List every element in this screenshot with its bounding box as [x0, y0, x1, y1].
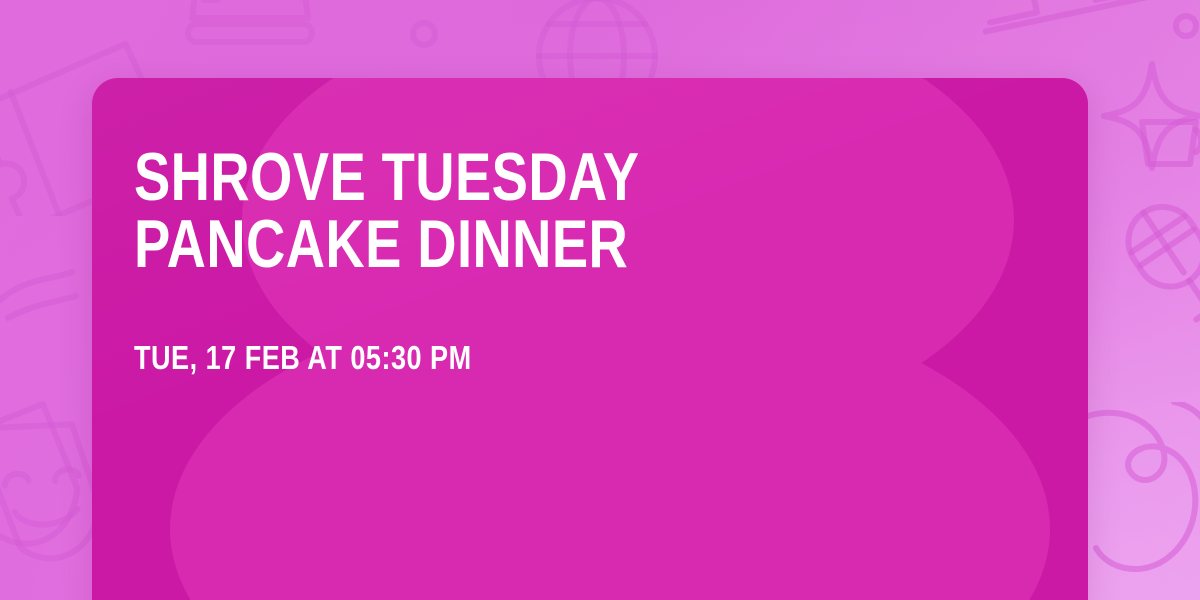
- dot-accent-icon: [404, 14, 444, 54]
- event-title: Shrove Tuesday Pancake Dinner: [134, 144, 833, 279]
- event-card-canvas: Shrove Tuesday Pancake Dinner Tue, 17 Fe…: [0, 0, 1200, 600]
- dot-accent-icon: [1166, 6, 1200, 46]
- cup-accent-icon: [1126, 100, 1200, 190]
- microphone-icon: [1112, 180, 1200, 330]
- event-date: Tue, 17 Feb at 05:30 PM: [134, 279, 851, 376]
- stage-icon: [170, 0, 330, 66]
- card-content: Shrove Tuesday Pancake Dinner Tue, 17 Fe…: [134, 144, 1008, 375]
- event-card[interactable]: Shrove Tuesday Pancake Dinner Tue, 17 Fe…: [92, 78, 1088, 600]
